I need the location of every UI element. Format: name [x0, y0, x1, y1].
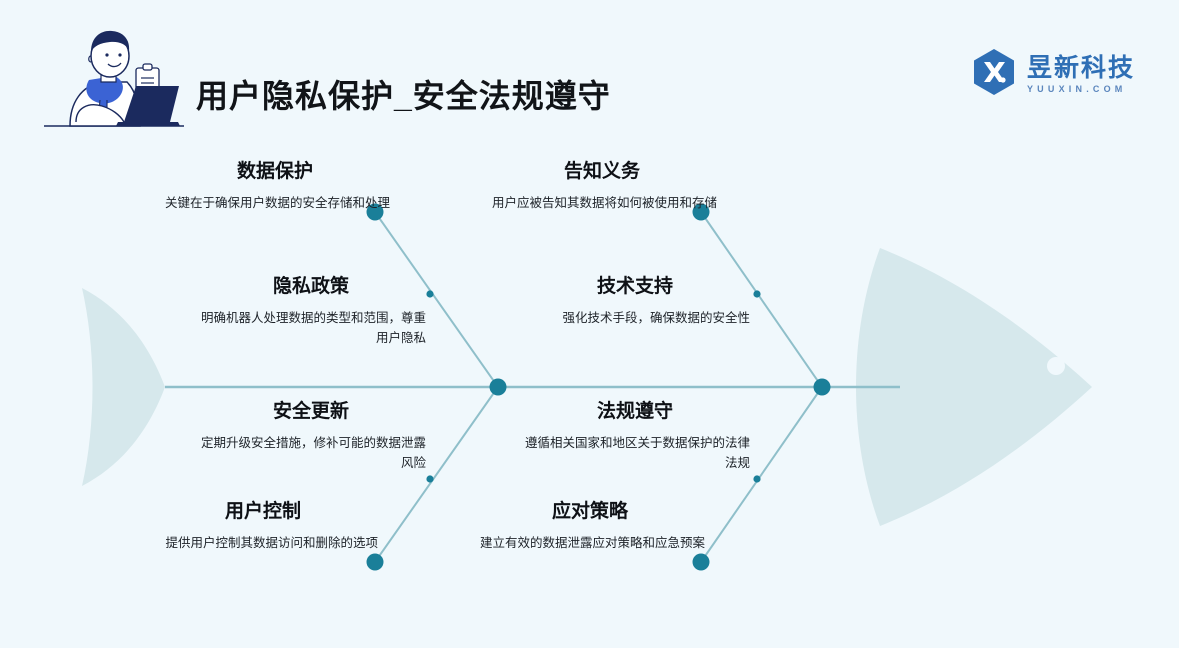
branch-description: 定期升级安全措施，修补可能的数据泄露风险 [196, 433, 426, 474]
bone-node-regulation-compliance [753, 475, 760, 482]
spine-node-right [814, 379, 831, 396]
branch-title: 法规遵守 [520, 400, 750, 424]
bone-node-user-control [367, 554, 384, 571]
branch-privacy-policy[interactable]: 隐私政策 明确机器人处理数据的类型和范围，尊重用户隐私 [196, 275, 426, 349]
branch-description: 遵循相关国家和地区关于数据保护的法律法规 [520, 433, 750, 474]
fish-eye-icon [1047, 357, 1065, 375]
branch-title: 应对策略 [475, 500, 705, 524]
branch-description: 关键在于确保用户数据的安全存储和处理 [160, 193, 390, 214]
branch-description: 建立有效的数据泄露应对策略和应急预案 [475, 533, 705, 554]
fish-tail-shape [82, 288, 165, 486]
branch-data-protection[interactable]: 数据保护 关键在于确保用户数据的安全存储和处理 [160, 160, 390, 213]
bone-node-privacy-policy [426, 290, 433, 297]
branch-description: 强化技术手段，确保数据的安全性 [520, 308, 750, 329]
branch-title: 告知义务 [487, 160, 717, 184]
branch-regulation-compliance[interactable]: 法规遵守 遵循相关国家和地区关于数据保护的法律法规 [520, 400, 750, 474]
slide-canvas: 用户隐私保护_安全法规遵守 昱新科技 YUUXIN.COM [0, 0, 1179, 648]
branch-title: 安全更新 [196, 400, 426, 424]
branch-title: 数据保护 [160, 160, 390, 184]
branch-notification-duty[interactable]: 告知义务 用户应被告知其数据将如何被使用和存储 [487, 160, 717, 213]
bone-node-technical-support [753, 290, 760, 297]
branch-title: 用户控制 [148, 500, 378, 524]
branch-security-update[interactable]: 安全更新 定期升级安全措施，修补可能的数据泄露风险 [196, 400, 426, 474]
branch-title: 隐私政策 [196, 275, 426, 299]
branch-response-strategy[interactable]: 应对策略 建立有效的数据泄露应对策略和应急预案 [475, 500, 705, 553]
branch-technical-support[interactable]: 技术支持 强化技术手段，确保数据的安全性 [520, 275, 750, 328]
branch-description: 提供用户控制其数据访问和删除的选项 [148, 533, 378, 554]
branch-user-control[interactable]: 用户控制 提供用户控制其数据访问和删除的选项 [148, 500, 378, 553]
bone-node-security-update [426, 475, 433, 482]
spine-node-left [490, 379, 507, 396]
bone-node-response-strategy [693, 554, 710, 571]
branch-description: 明确机器人处理数据的类型和范围，尊重用户隐私 [196, 308, 426, 349]
branch-title: 技术支持 [520, 275, 750, 299]
branch-description: 用户应被告知其数据将如何被使用和存储 [487, 193, 717, 214]
